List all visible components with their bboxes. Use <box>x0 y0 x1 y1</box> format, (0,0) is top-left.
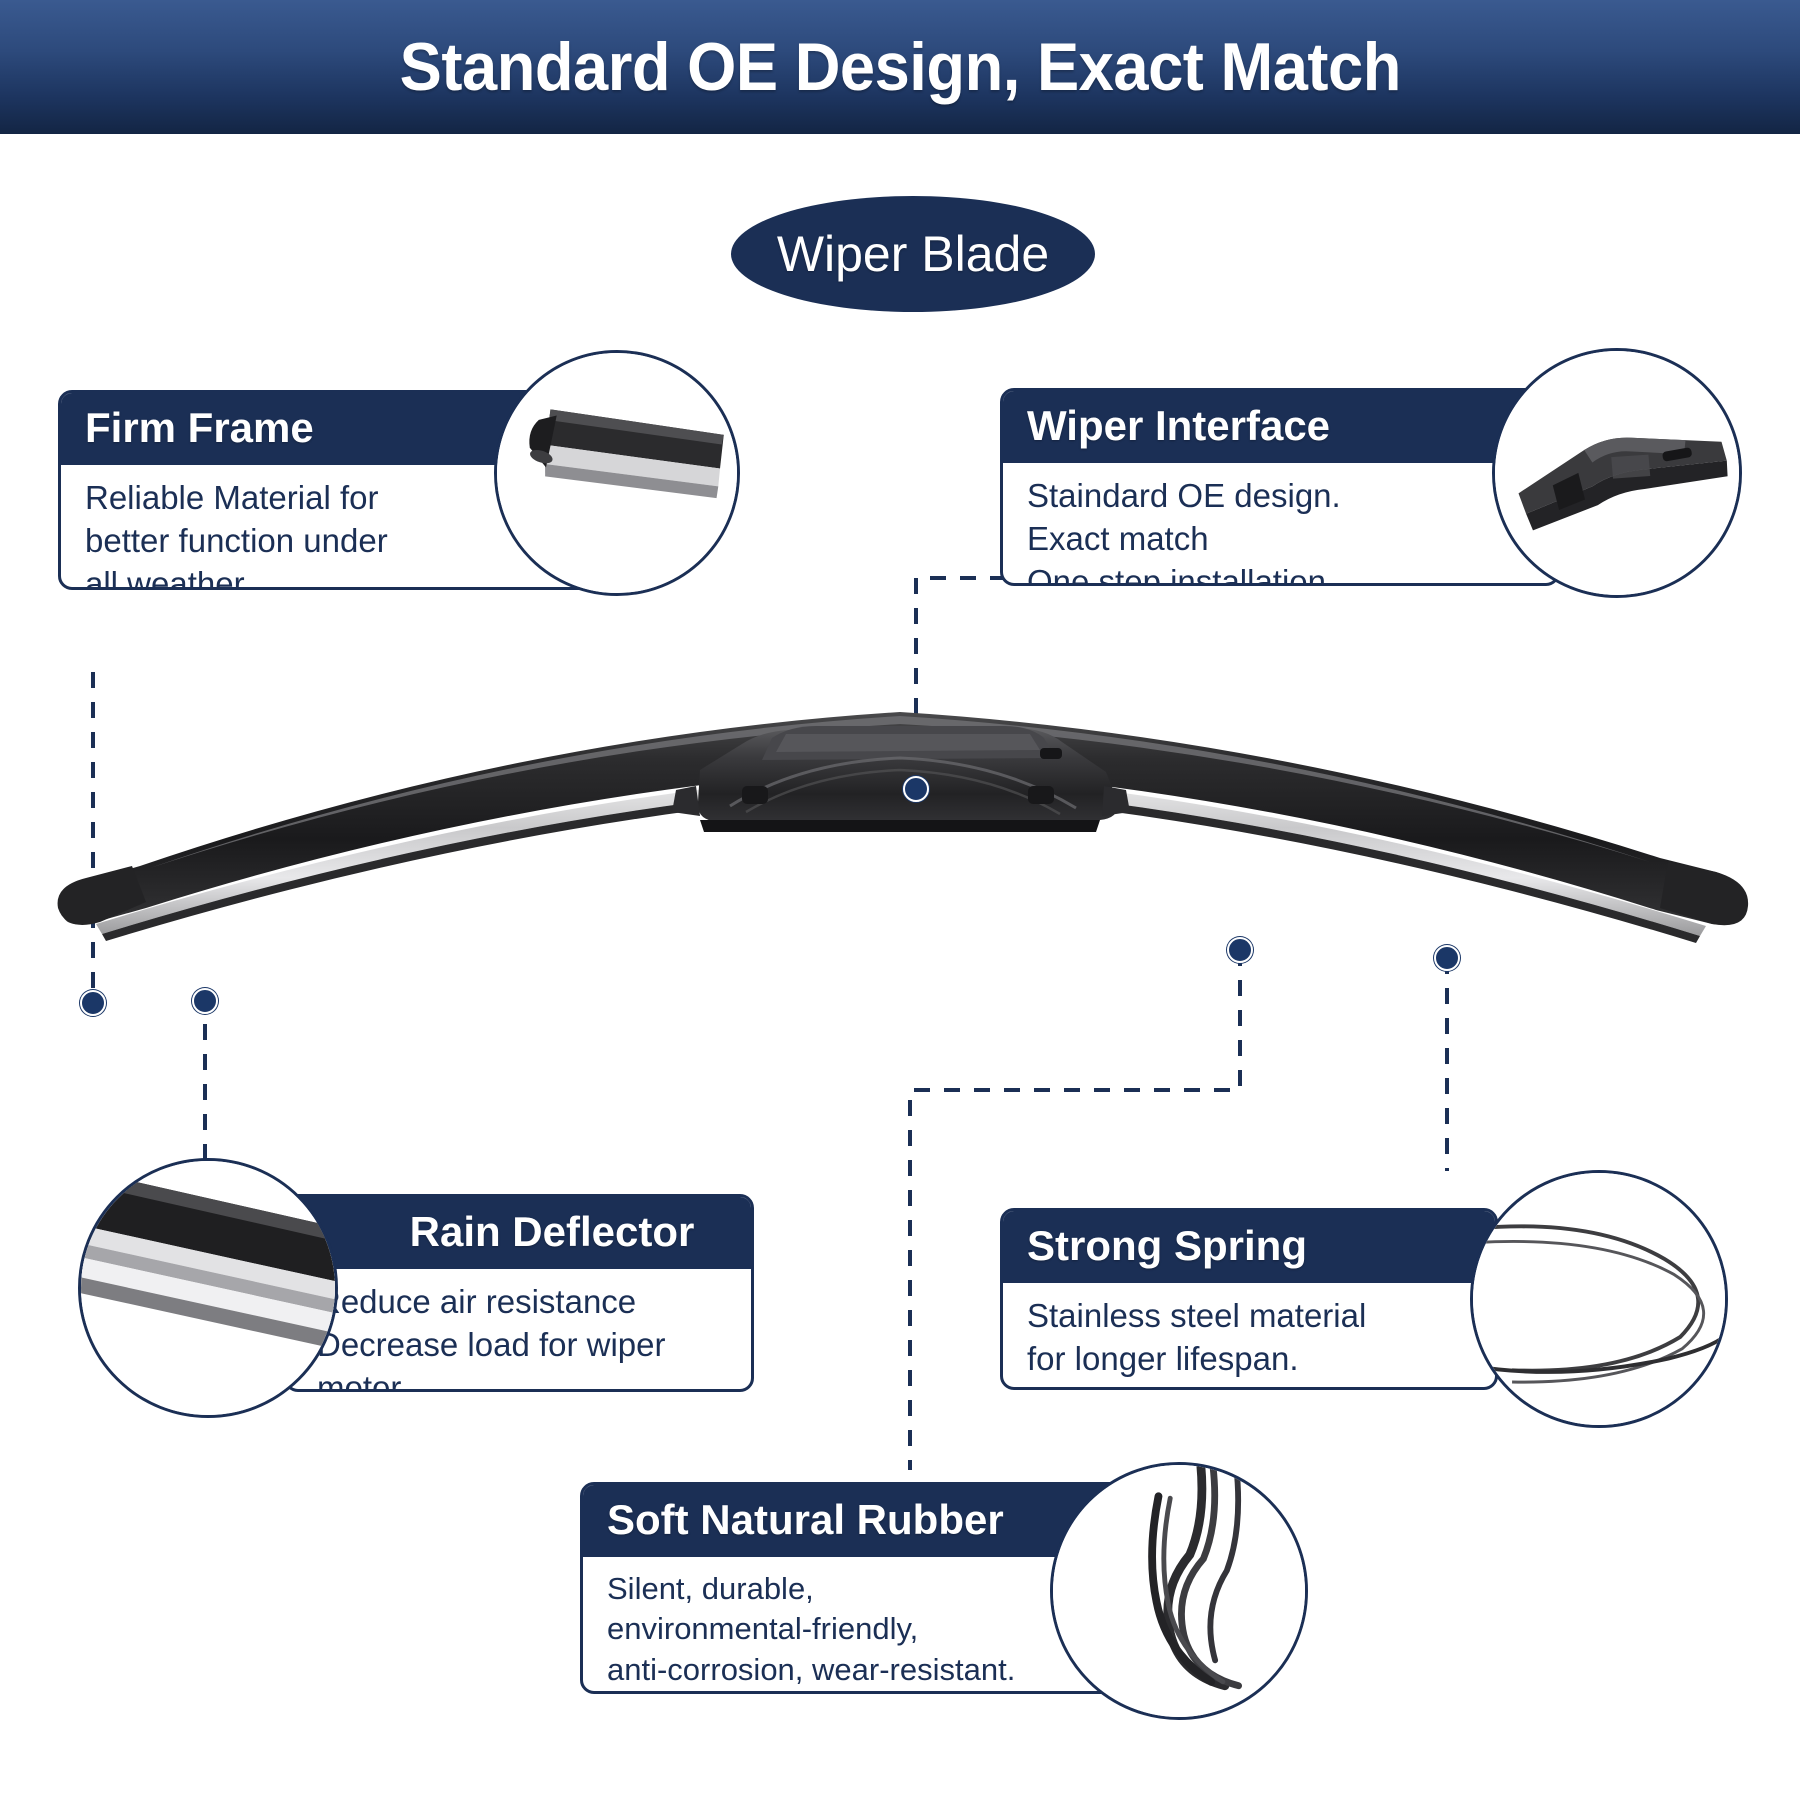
wiper-interface-box: Wiper Interface Staindard OE design. Exa… <box>1000 388 1560 586</box>
marker-dot-wiper-interface <box>903 776 929 802</box>
steel-spring-closeup-photo <box>1470 1170 1728 1428</box>
rain-deflector-box: Rain Deflector Reduce air resistance Dec… <box>284 1194 754 1392</box>
marker-dot-strong-spring <box>1434 945 1460 971</box>
wiper-interface-body: Staindard OE design. Exact match One ste… <box>1003 463 1557 586</box>
rain-deflector-body: Reduce air resistance Decrease load for … <box>287 1269 751 1392</box>
strong-spring-body: Stainless steel material for longer life… <box>1003 1283 1495 1390</box>
wiper-frame-closeup-photo <box>494 350 740 596</box>
strong-spring-line-2: for longer lifespan. <box>1027 1338 1473 1381</box>
wiper-blade-product-photo <box>0 640 1800 970</box>
soft-natural-rubber-line-3: anti-corrosion, wear-resistant. <box>607 1650 1145 1690</box>
rain-deflector-line-2: Decrease load for wiper <box>317 1324 729 1367</box>
wiper-interface-title: Wiper Interface <box>1003 391 1557 463</box>
wiper-interface-line-1: Staindard OE design. <box>1027 475 1535 518</box>
wiper-interface-line-3: One step installation <box>1027 561 1535 586</box>
wiper-connector-closeup-photo <box>1492 348 1742 598</box>
marker-dot-rain-deflector <box>192 988 218 1014</box>
marker-dot-soft-rubber <box>1227 937 1253 963</box>
wiper-interface-line-2: Exact match <box>1027 518 1535 561</box>
rain-deflector-title: Rain Deflector <box>287 1197 751 1269</box>
firm-frame-line-3: all weather. <box>85 563 593 590</box>
strong-spring-title: Strong Spring <box>1003 1211 1495 1283</box>
marker-dot-firm-frame <box>80 990 106 1016</box>
strong-spring-line-1: Stainless steel material <box>1027 1295 1473 1338</box>
rain-deflector-line-1: Reduce air resistance <box>317 1281 729 1324</box>
rain-deflector-closeup-photo <box>78 1158 338 1418</box>
rubber-strip-closeup-photo <box>1050 1462 1308 1720</box>
strong-spring-box: Strong Spring Stainless steel material f… <box>1000 1208 1498 1390</box>
rain-deflector-line-3: motor <box>317 1367 729 1392</box>
